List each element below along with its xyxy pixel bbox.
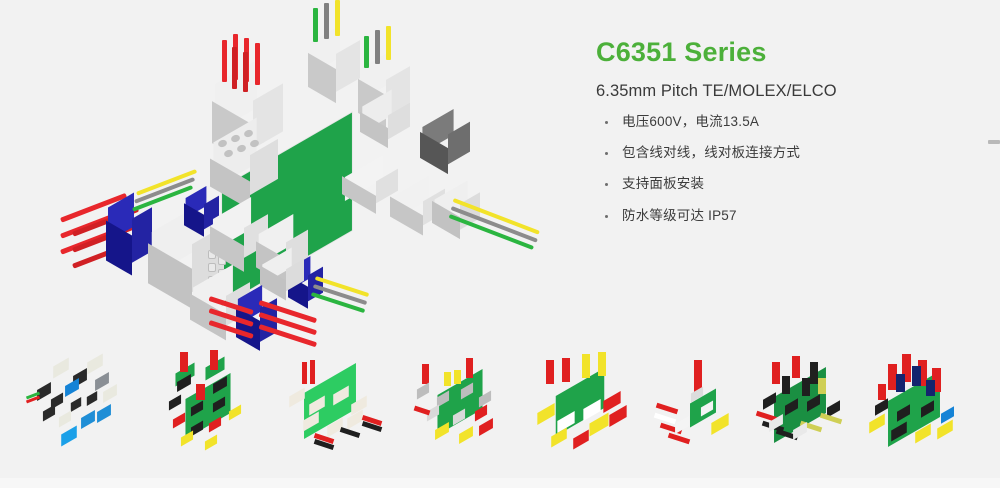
feature-item: 防水等级可达 IP57 [596, 206, 976, 226]
thumbnail-4[interactable] [408, 350, 538, 470]
thumbnail-7[interactable] [752, 348, 882, 468]
thumbnail-2[interactable] [160, 350, 290, 470]
thumbnail-5[interactable] [530, 350, 660, 470]
scrollbar-edge-mark[interactable] [988, 140, 1000, 144]
thumbnail-1[interactable] [24, 352, 154, 472]
feature-label: 包含线对线，线对板连接方式 [622, 145, 800, 160]
bullet-dot-icon [605, 152, 608, 155]
thumbnail-3[interactable] [280, 352, 410, 472]
series-title: C6351 Series [596, 38, 976, 68]
product-banner: C6351 Series 6.35mm Pitch TE/MOLEX/ELCO … [0, 0, 1000, 488]
bullet-dot-icon [605, 215, 608, 218]
thumbnail-8[interactable] [866, 346, 996, 466]
series-subtitle: 6.35mm Pitch TE/MOLEX/ELCO [596, 80, 976, 102]
bottom-band [0, 478, 1000, 488]
feature-label: 防水等级可达 IP57 [622, 208, 737, 223]
hero-product-illustration [60, 0, 580, 350]
pcb-board-main [222, 113, 352, 306]
bullet-dot-icon [605, 121, 608, 124]
feature-item: 包含线对线，线对板连接方式 [596, 143, 976, 163]
text-panel: C6351 Series 6.35mm Pitch TE/MOLEX/ELCO … [596, 38, 976, 237]
feature-label: 支持面板安装 [622, 176, 704, 191]
feature-label: 电压600V，电流13.5A [622, 114, 759, 129]
thumbnail-row [0, 346, 1000, 476]
feature-item: 支持面板安装 [596, 174, 976, 194]
bullet-dot-icon [605, 183, 608, 186]
feature-list: 电压600V，电流13.5A 包含线对线，线对板连接方式 支持面板安装 防水等级… [596, 112, 976, 226]
feature-item: 电压600V，电流13.5A [596, 112, 976, 132]
